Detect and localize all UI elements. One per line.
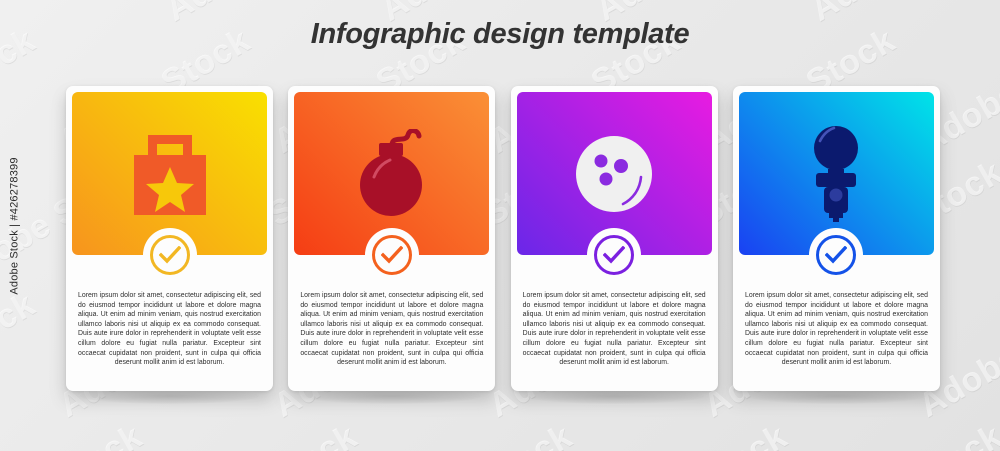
status-badge[interactable] <box>367 230 417 280</box>
stock-credit-text: Adobe Stock | #426278399 <box>9 157 21 294</box>
infographic-card[interactable]: Lorem ipsum dolor sit amet, consectetur … <box>288 86 495 391</box>
stock-credit: Adobe Stock | #426278399 <box>2 0 28 451</box>
status-badge[interactable] <box>811 230 861 280</box>
watermark-text: Adobe Stock <box>805 417 1000 451</box>
card-panel <box>294 92 489 255</box>
check-circle-icon <box>372 235 412 275</box>
watermark-text: Adobe Stock <box>375 417 579 451</box>
card-floor-shadow <box>80 388 259 404</box>
card-body-text: Lorem ipsum dolor sit amet, consectetur … <box>517 291 712 368</box>
watermark-text: Adobe Stock <box>160 417 364 451</box>
card-panel <box>72 92 267 255</box>
infographic-cards-row: Lorem ipsum dolor sit amet, consectetur … <box>66 86 940 391</box>
check-circle-icon <box>594 235 634 275</box>
card-body-text: Lorem ipsum dolor sit amet, consectetur … <box>294 291 489 368</box>
status-badge[interactable] <box>589 230 639 280</box>
card-body-text: Lorem ipsum dolor sit amet, consectetur … <box>739 291 934 368</box>
card-floor-shadow <box>302 388 481 404</box>
check-circle-icon <box>150 235 190 275</box>
watermark-text: Adobe Stock <box>0 285 42 425</box>
card-panel <box>517 92 712 255</box>
watermark-text: Adobe Stock <box>0 417 149 451</box>
infographic-card[interactable]: Lorem ipsum dolor sit amet, consectetur … <box>66 86 273 391</box>
card-panel <box>739 92 934 255</box>
infographic-card[interactable]: Lorem ipsum dolor sit amet, consectetur … <box>733 86 940 391</box>
status-badge[interactable] <box>145 230 195 280</box>
watermark-text: Adobe Stock <box>590 417 794 451</box>
page-title: Infographic design template <box>0 18 1000 51</box>
infographic-card[interactable]: Lorem ipsum dolor sit amet, consectetur … <box>511 86 718 391</box>
card-body-text: Lorem ipsum dolor sit amet, consectetur … <box>72 291 267 368</box>
card-floor-shadow <box>747 388 926 404</box>
check-circle-icon <box>816 235 856 275</box>
card-floor-shadow <box>525 388 704 404</box>
